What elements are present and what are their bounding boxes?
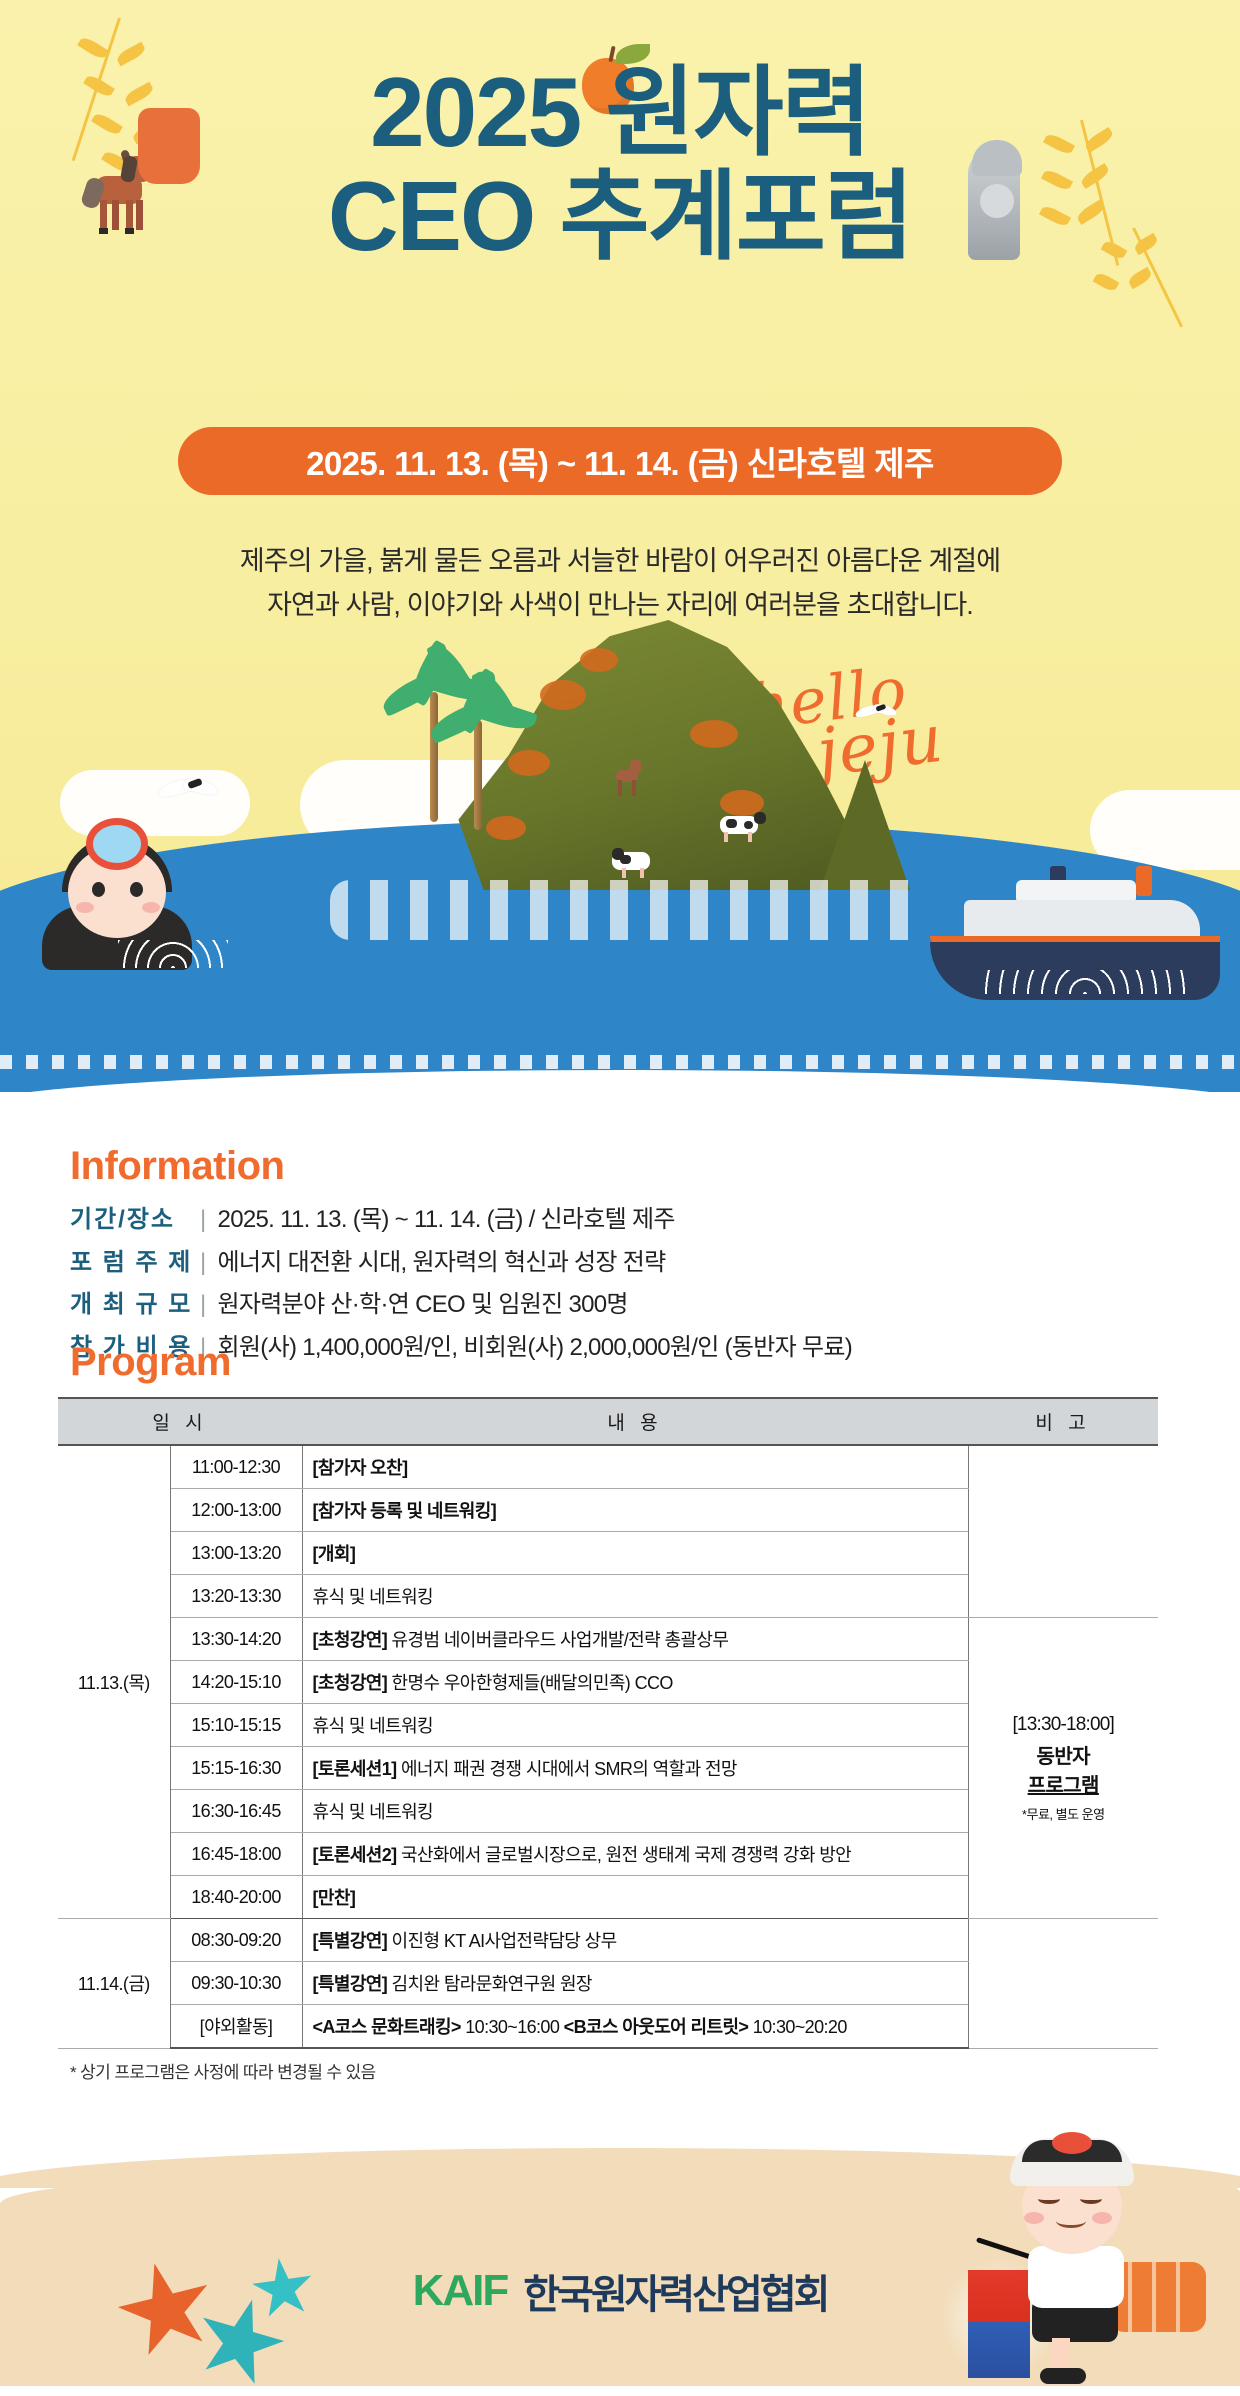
row-text: 휴식 및 네트워킹 (313, 1587, 434, 1607)
row-tag: [초청강연] (313, 1630, 388, 1650)
row-content: 휴식 및 네트워킹 (302, 1704, 968, 1747)
row-content: [만찬] (302, 1876, 968, 1919)
row-time: 16:30-16:45 (170, 1790, 302, 1833)
row-text: 국산화에서 글로벌시장으로, 원전 생태계 국제 경쟁력 강화 방안 (397, 1845, 852, 1865)
row-content: [특별강연] 이진형 KT AI사업전략담당 상무 (302, 1919, 968, 1962)
column-header-day: 일 시 (58, 1398, 302, 1445)
row-tag: [특별강연] (313, 1974, 388, 1994)
poster-root: 2025 원자력 CEO 추계포럼 2025. 11. 13. (목) ~ 11… (0, 0, 1240, 2386)
info-separator: | (200, 1284, 206, 1327)
cruise-ship-illustration (930, 870, 1220, 1000)
row-time: 15:10-15:15 (170, 1704, 302, 1747)
row-tag: [만찬] (313, 1888, 356, 1908)
row-content: 휴식 및 네트워킹 (302, 1575, 968, 1618)
row-time: 18:40-20:00 (170, 1876, 302, 1919)
information-section: Information 기간/장소 | 2025. 11. 13. (목) ~ … (70, 1144, 1170, 1370)
row-time: 14:20-15:10 (170, 1661, 302, 1704)
sea-foam (330, 880, 930, 940)
cow-icon (720, 810, 766, 842)
row-content: [토론세션2] 국산화에서 글로벌시장으로, 원전 생태계 국제 경쟁력 강화 … (302, 1833, 968, 1876)
hero-section: 2025 원자력 CEO 추계포럼 2025. 11. 13. (목) ~ 11… (0, 0, 1240, 1092)
seongsan-island-illustration (390, 600, 930, 900)
taewak-buoy-icon (138, 108, 200, 184)
row-text: 휴식 및 네트워킹 (313, 1802, 434, 1822)
info-value: 2025. 11. 13. (목) ~ 11. 14. (금) / 신라호텔 제… (218, 1199, 675, 1242)
intro-line-1: 제주의 가을, 붉게 물든 오름과 서늘한 바람이 어우러진 아름다운 계절에 (0, 540, 1240, 584)
info-value: 원자력분야 산·학·연 CEO 및 임원진 300명 (218, 1284, 628, 1327)
info-label: 포 럼 주 제 (70, 1242, 200, 1285)
program-table-body: 11.13.(목) 11:00-12:30 [참가자 오찬] 12:00-13:… (58, 1445, 1158, 2048)
row-content: [참가자 오찬] (302, 1445, 968, 1489)
row-tag: [토론세션1] (313, 1759, 397, 1779)
row-content: 휴식 및 네트워킹 (302, 1790, 968, 1833)
row-content: [특별강연] 김치완 탐라문화연구원 원장 (302, 1962, 968, 2005)
row-text: 이진형 KT AI사업전략담당 상무 (387, 1931, 616, 1951)
program-table: 일 시 내 용 비 고 11.13.(목) 11:00-12:30 [참가자 오… (58, 1397, 1158, 2049)
dol-hareubang-small-icon (968, 148, 1020, 260)
program-footnote: * 상기 프로그램은 사정에 따라 변경될 수 있음 (70, 2058, 1170, 2083)
note-time: [13:30-18:00] (979, 1714, 1149, 1736)
kaif-logo-name: 한국원자력산업협회 (523, 2262, 827, 2320)
row-tag: [토론세션2] (313, 1845, 397, 1865)
row-time: 13:30-14:20 (170, 1618, 302, 1661)
note-cell-empty (968, 1919, 1158, 2049)
note-cell-empty (968, 1445, 1158, 1618)
row-tag: [참가자 등록 및 네트워킹] (313, 1501, 497, 1521)
row-time: 09:30-10:30 (170, 1962, 302, 2005)
table-row: 13:30-14:20 [초청강연] 유경범 네이버클라우드 사업개발/전략 총… (58, 1618, 1158, 1661)
row-tag: [참가자 오찬] (313, 1458, 408, 1478)
row-time: 15:15-16:30 (170, 1747, 302, 1790)
column-header-content: 내 용 (302, 1398, 968, 1445)
day-label: 11.14.(금) (58, 1919, 170, 2049)
info-row: 포 럼 주 제 | 에너지 대전환 시대, 원자력의 혁신과 성장 전략 (70, 1242, 1170, 1285)
program-heading: Program (70, 1340, 1170, 1385)
row-text: 유경범 네이버클라우드 사업개발/전략 총괄상무 (387, 1630, 728, 1650)
row-time: 11:00-12:30 (170, 1445, 302, 1489)
row-content: <A코스 문화트래킹> 10:30~16:00 <B코스 아웃도어 리트릿> 1… (302, 2005, 968, 2049)
row-text: 10:30~16:00 (461, 2017, 564, 2037)
row-time: [야외활동] (170, 2005, 302, 2049)
row-content: [개회] (302, 1532, 968, 1575)
wave-pattern (118, 940, 228, 968)
date-venue-banner: 2025. 11. 13. (목) ~ 11. 14. (금) 신라호텔 제주 (178, 427, 1062, 495)
row-content: [토론세션1] 에너지 패권 경쟁 시대에서 SMR의 역할과 전망 (302, 1747, 968, 1790)
column-header-note: 비 고 (968, 1398, 1158, 1445)
info-label: 기간/장소 (70, 1199, 200, 1242)
row-tag: [초청강연] (313, 1673, 388, 1693)
info-separator: | (200, 1199, 206, 1242)
info-row: 개 최 규 모 | 원자력분야 산·학·연 CEO 및 임원진 300명 (70, 1284, 1170, 1327)
row-time: 13:00-13:20 (170, 1532, 302, 1575)
row-tag: [개회] (313, 1544, 356, 1564)
info-row: 기간/장소 | 2025. 11. 13. (목) ~ 11. 14. (금) … (70, 1199, 1170, 1242)
row-tag: [특별강연] (313, 1931, 388, 1951)
table-row: 11.13.(목) 11:00-12:30 [참가자 오찬] (58, 1445, 1158, 1489)
note-line-2: 프로그램 (979, 1769, 1149, 1798)
row-content: [초청강연] 유경범 네이버클라우드 사업개발/전략 총괄상무 (302, 1618, 968, 1661)
day-label: 11.13.(목) (58, 1445, 170, 1919)
sea-dashed-line (0, 1055, 1240, 1069)
table-row: 11.14.(금) 08:30-09:20 [특별강연] 이진형 KT AI사업… (58, 1919, 1158, 1962)
row-time: 12:00-13:00 (170, 1489, 302, 1532)
row-tag: <A코스 문화트래킹> (313, 2017, 461, 2037)
row-text: 휴식 및 네트워킹 (313, 1716, 434, 1736)
kaif-logo-mark: KAIF (413, 2266, 508, 2316)
row-time: 16:45-18:00 (170, 1833, 302, 1876)
note-small-text: *무료, 별도 운영 (979, 1804, 1149, 1823)
row-tag-2: <B코스 아웃도어 리트릿> (564, 2017, 749, 2037)
row-content: [초청강연] 한명수 우아한형제들(배달의민족) CCO (302, 1661, 968, 1704)
row-time: 08:30-09:20 (170, 1919, 302, 1962)
row-time: 13:20-13:30 (170, 1575, 302, 1618)
hill-horse-icon (612, 760, 642, 800)
row-text: 에너지 패권 경쟁 시대에서 SMR의 역할과 전망 (397, 1759, 737, 1779)
companion-program-note: [13:30-18:00] 동반자 프로그램 *무료, 별도 운영 (968, 1618, 1158, 1919)
seagull-icon (158, 778, 218, 804)
info-label: 개 최 규 모 (70, 1284, 200, 1327)
program-table-head: 일 시 내 용 비 고 (58, 1398, 1158, 1445)
row-text-2: 10:30~20:20 (748, 2017, 846, 2037)
row-text: 한명수 우아한형제들(배달의민족) CCO (387, 1673, 673, 1693)
korean-drummer-illustration (960, 2142, 1210, 2382)
cow-icon (612, 846, 658, 878)
information-heading: Information (70, 1144, 1170, 1189)
note-line-1: 동반자 (979, 1740, 1149, 1769)
program-section: Program 일 시 내 용 비 고 11.13.(목) 11:00-12:3… (70, 1340, 1170, 2083)
program-header-row: 일 시 내 용 비 고 (58, 1398, 1158, 1445)
info-separator: | (200, 1242, 206, 1285)
row-text: 김치완 탐라문화연구원 원장 (387, 1974, 592, 1994)
row-content: [참가자 등록 및 네트워킹] (302, 1489, 968, 1532)
info-value: 에너지 대전환 시대, 원자력의 혁신과 성장 전략 (218, 1242, 666, 1285)
